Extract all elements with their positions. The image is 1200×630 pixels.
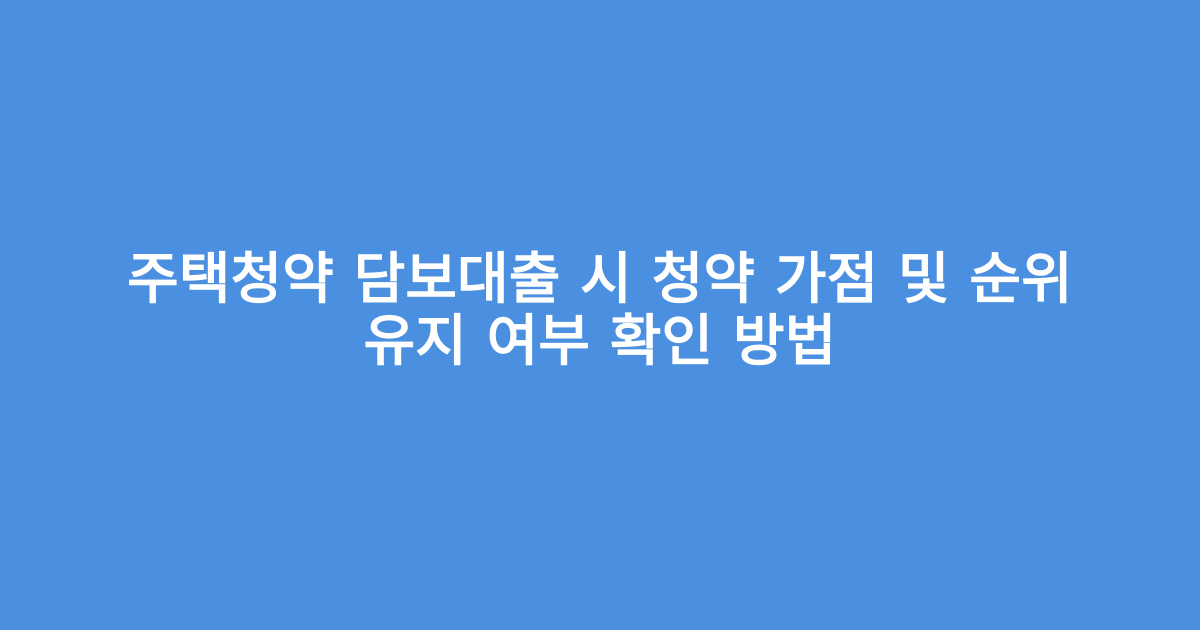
- page-title: 주택청약 담보대출 시 청약 가점 및 순위 유지 여부 확인 방법: [70, 249, 1130, 373]
- og-share-card: 주택청약 담보대출 시 청약 가점 및 순위 유지 여부 확인 방법: [0, 0, 1200, 630]
- title-block: 주택청약 담보대출 시 청약 가점 및 순위 유지 여부 확인 방법: [50, 249, 1150, 373]
